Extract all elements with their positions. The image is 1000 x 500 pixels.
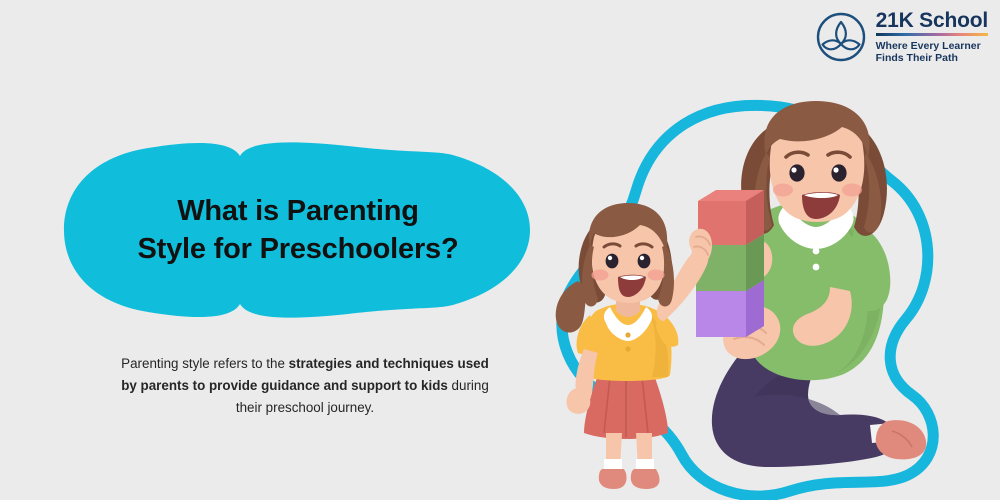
- logo-gradient-rule: [876, 33, 988, 36]
- mother-button-2: [813, 248, 820, 255]
- logo-name: 21K School: [876, 10, 988, 31]
- child-cheek-right: [648, 270, 665, 281]
- child-button-2: [625, 346, 630, 351]
- logo-tagline: Where Every Learner Finds Their Path: [876, 40, 981, 65]
- description-part-1: Parenting style refers to the: [121, 356, 288, 371]
- headline-callout: What is Parenting Style for Preschoolers…: [58, 140, 538, 320]
- page-title: What is Parenting Style for Preschoolers…: [58, 140, 538, 320]
- infographic-banner: 21K School Where Every Learner Finds The…: [0, 0, 1000, 500]
- child-eye-left-glint: [608, 256, 612, 260]
- child-button-1: [625, 332, 630, 337]
- logo-text-block: 21K School Where Every Learner Finds The…: [876, 10, 988, 65]
- mother-eye-right-glint: [833, 167, 838, 172]
- mother-shoe: [876, 420, 926, 459]
- child-shoe-right: [631, 469, 660, 489]
- headline-line-2: Style for Preschoolers?: [138, 230, 459, 268]
- child-shoe-left: [599, 469, 627, 489]
- logo-tagline-line1: Where Every Learner: [876, 40, 981, 52]
- logo-tagline-line2: Finds Their Path: [876, 52, 958, 64]
- mother-button-3: [813, 264, 820, 271]
- headline-line-1: What is Parenting: [177, 192, 419, 230]
- mother-cheek-left: [773, 184, 793, 197]
- child-eye-right: [638, 254, 651, 269]
- illustration-mother-and-child: [540, 95, 1000, 500]
- child-figure: [556, 203, 712, 489]
- mother-eye-left: [789, 164, 804, 181]
- mother-eye-left-glint: [791, 167, 796, 172]
- mother-sleeve: [850, 223, 890, 311]
- lotus-circle-logo-icon: [815, 11, 867, 63]
- description-paragraph: Parenting style refers to the strategies…: [120, 353, 490, 419]
- child-eye-left: [606, 254, 619, 269]
- mother-eye-right: [831, 164, 846, 181]
- child-eye-right-glint: [640, 256, 644, 260]
- child-cheek-left: [592, 270, 609, 281]
- block-bottom: [696, 291, 746, 337]
- brand-logo: 21K School Where Every Learner Finds The…: [815, 10, 988, 65]
- mother-cheek-right: [842, 184, 862, 197]
- mother-button-1: [813, 232, 820, 239]
